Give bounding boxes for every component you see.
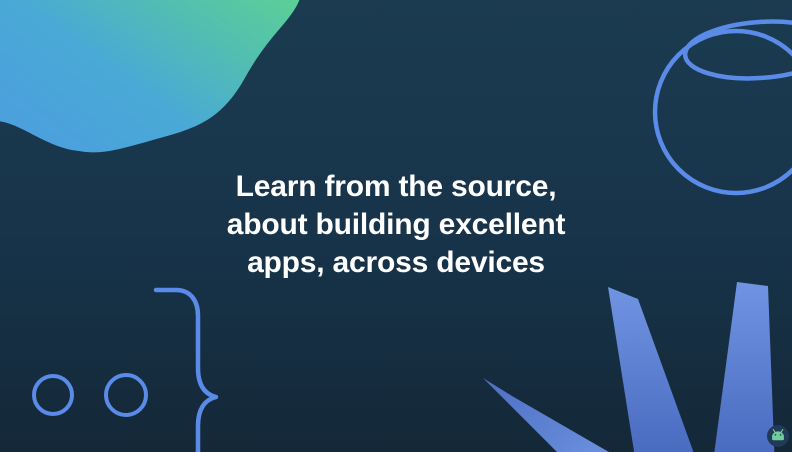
headline-line-1: Learn from the source, [0,168,792,206]
android-robot-base [772,437,784,441]
headline-line-2: about building excellent [0,206,792,244]
slide-canvas: Learn from the source, about building ex… [0,0,792,452]
headline-line-3: apps, across devices [0,244,792,282]
android-robot-eye-left [775,434,777,436]
android-robot-eye-right [780,434,782,436]
page-title: Learn from the source, about building ex… [0,168,792,282]
